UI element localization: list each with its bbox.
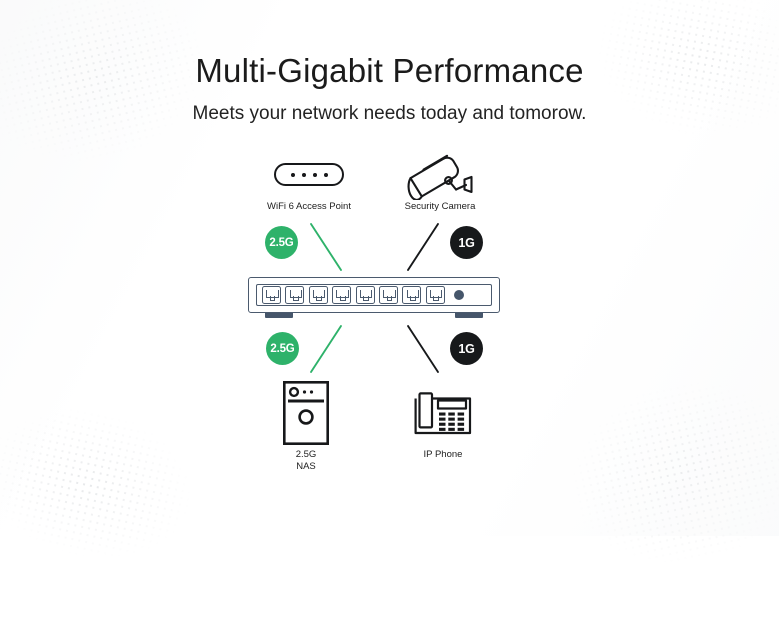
multi-gigabit-switch[interactable] (248, 277, 500, 313)
nas-tower-icon (283, 381, 329, 450)
security-camera-label: Security Camera (370, 201, 510, 213)
switch-port-panel (256, 284, 492, 306)
speed-badge-2-5g-bottom-left: 2.5G (266, 332, 299, 365)
speed-badge-1g-top-right: 1G (450, 226, 483, 259)
ap-led-dot (324, 173, 328, 177)
wifi-access-point-icon (274, 163, 344, 186)
link-line-access-point (305, 218, 353, 278)
rj45-port-1[interactable] (262, 286, 281, 304)
ap-led-dot (313, 173, 317, 177)
rj45-port-5[interactable] (356, 286, 375, 304)
ap-led-dot (291, 173, 295, 177)
ap-led-dot (302, 173, 306, 177)
ip-phone-icon (414, 391, 472, 446)
nas-label: 2.5G NAS (236, 449, 376, 472)
link-line-nas (305, 320, 353, 380)
page-title: Multi-Gigabit Performance (0, 52, 779, 90)
wifi-access-point-label: WiFi 6 Access Point (239, 201, 379, 213)
rj45-port-2[interactable] (285, 286, 304, 304)
rj45-port-6[interactable] (379, 286, 398, 304)
switch-foot-right (455, 313, 483, 318)
switch-foot-left (265, 313, 293, 318)
rj45-port-8[interactable] (426, 286, 445, 304)
diagram-stage: Multi-Gigabit Performance Meets your net… (0, 0, 779, 536)
ip-phone-label: IP Phone (373, 449, 513, 461)
link-line-security-camera (400, 218, 448, 278)
speed-badge-2-5g-top-left: 2.5G (265, 226, 298, 259)
security-camera-icon (404, 152, 476, 205)
speed-badge-1g-bottom-right: 1G (450, 332, 483, 365)
link-line-ip-phone (400, 320, 448, 380)
rj45-port-3[interactable] (309, 286, 328, 304)
rj45-port-4[interactable] (332, 286, 351, 304)
rj45-port-7[interactable] (402, 286, 421, 304)
status-led-icon (454, 290, 464, 300)
page-subtitle: Meets your network needs today and tomor… (0, 103, 779, 125)
